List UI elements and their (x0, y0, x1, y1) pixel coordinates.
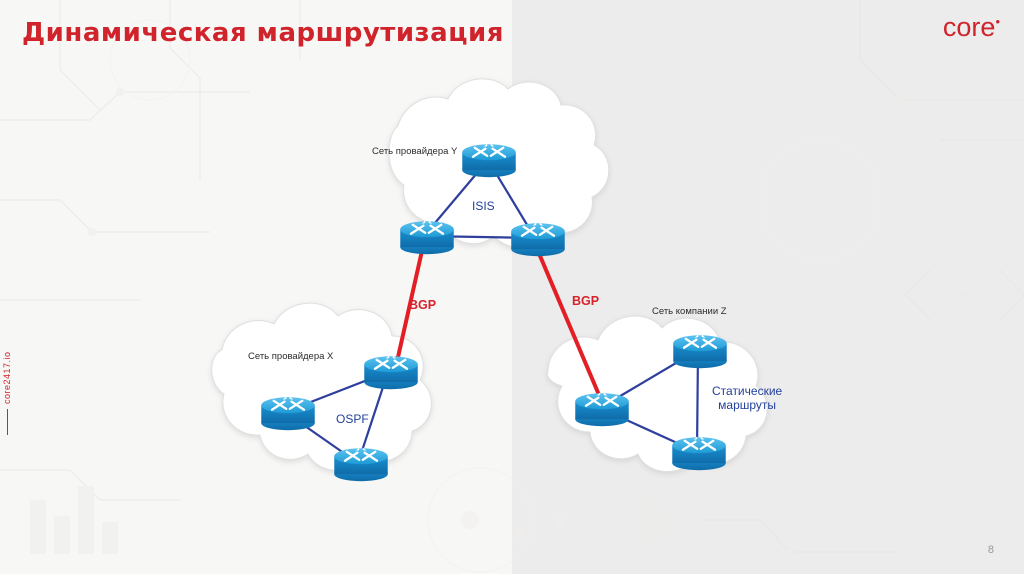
cloud-label-provider-y: Сеть провайдера Y (372, 146, 457, 157)
protocol-label-ospf: OSPF (336, 412, 369, 426)
router-y-top (462, 143, 515, 177)
network-diagram (0, 0, 1024, 574)
static-routes-line-2: маршруты (718, 398, 776, 412)
router-z-bottom (672, 436, 725, 470)
protocol-label-isis: ISIS (472, 199, 495, 213)
slide: Динамическая маршрутизация core• core241… (0, 0, 1024, 574)
static-routes-line-1: Статические (712, 384, 782, 398)
router-y-right (511, 222, 564, 256)
router-x-left (261, 396, 314, 430)
router-y-left (400, 220, 453, 254)
router-z-left (575, 392, 628, 426)
cloud-label-company-z: Сеть компании Z (652, 306, 727, 317)
router-x-bottom (334, 447, 387, 481)
static-routes-label: Статические маршруты (712, 384, 782, 412)
protocol-label-bgp-right: BGP (572, 294, 599, 308)
protocol-label-bgp-left: BGP (409, 298, 436, 312)
router-x-top (364, 355, 417, 389)
router-z-top (673, 334, 726, 368)
cloud-label-provider-x: Сеть провайдера X (248, 351, 333, 362)
